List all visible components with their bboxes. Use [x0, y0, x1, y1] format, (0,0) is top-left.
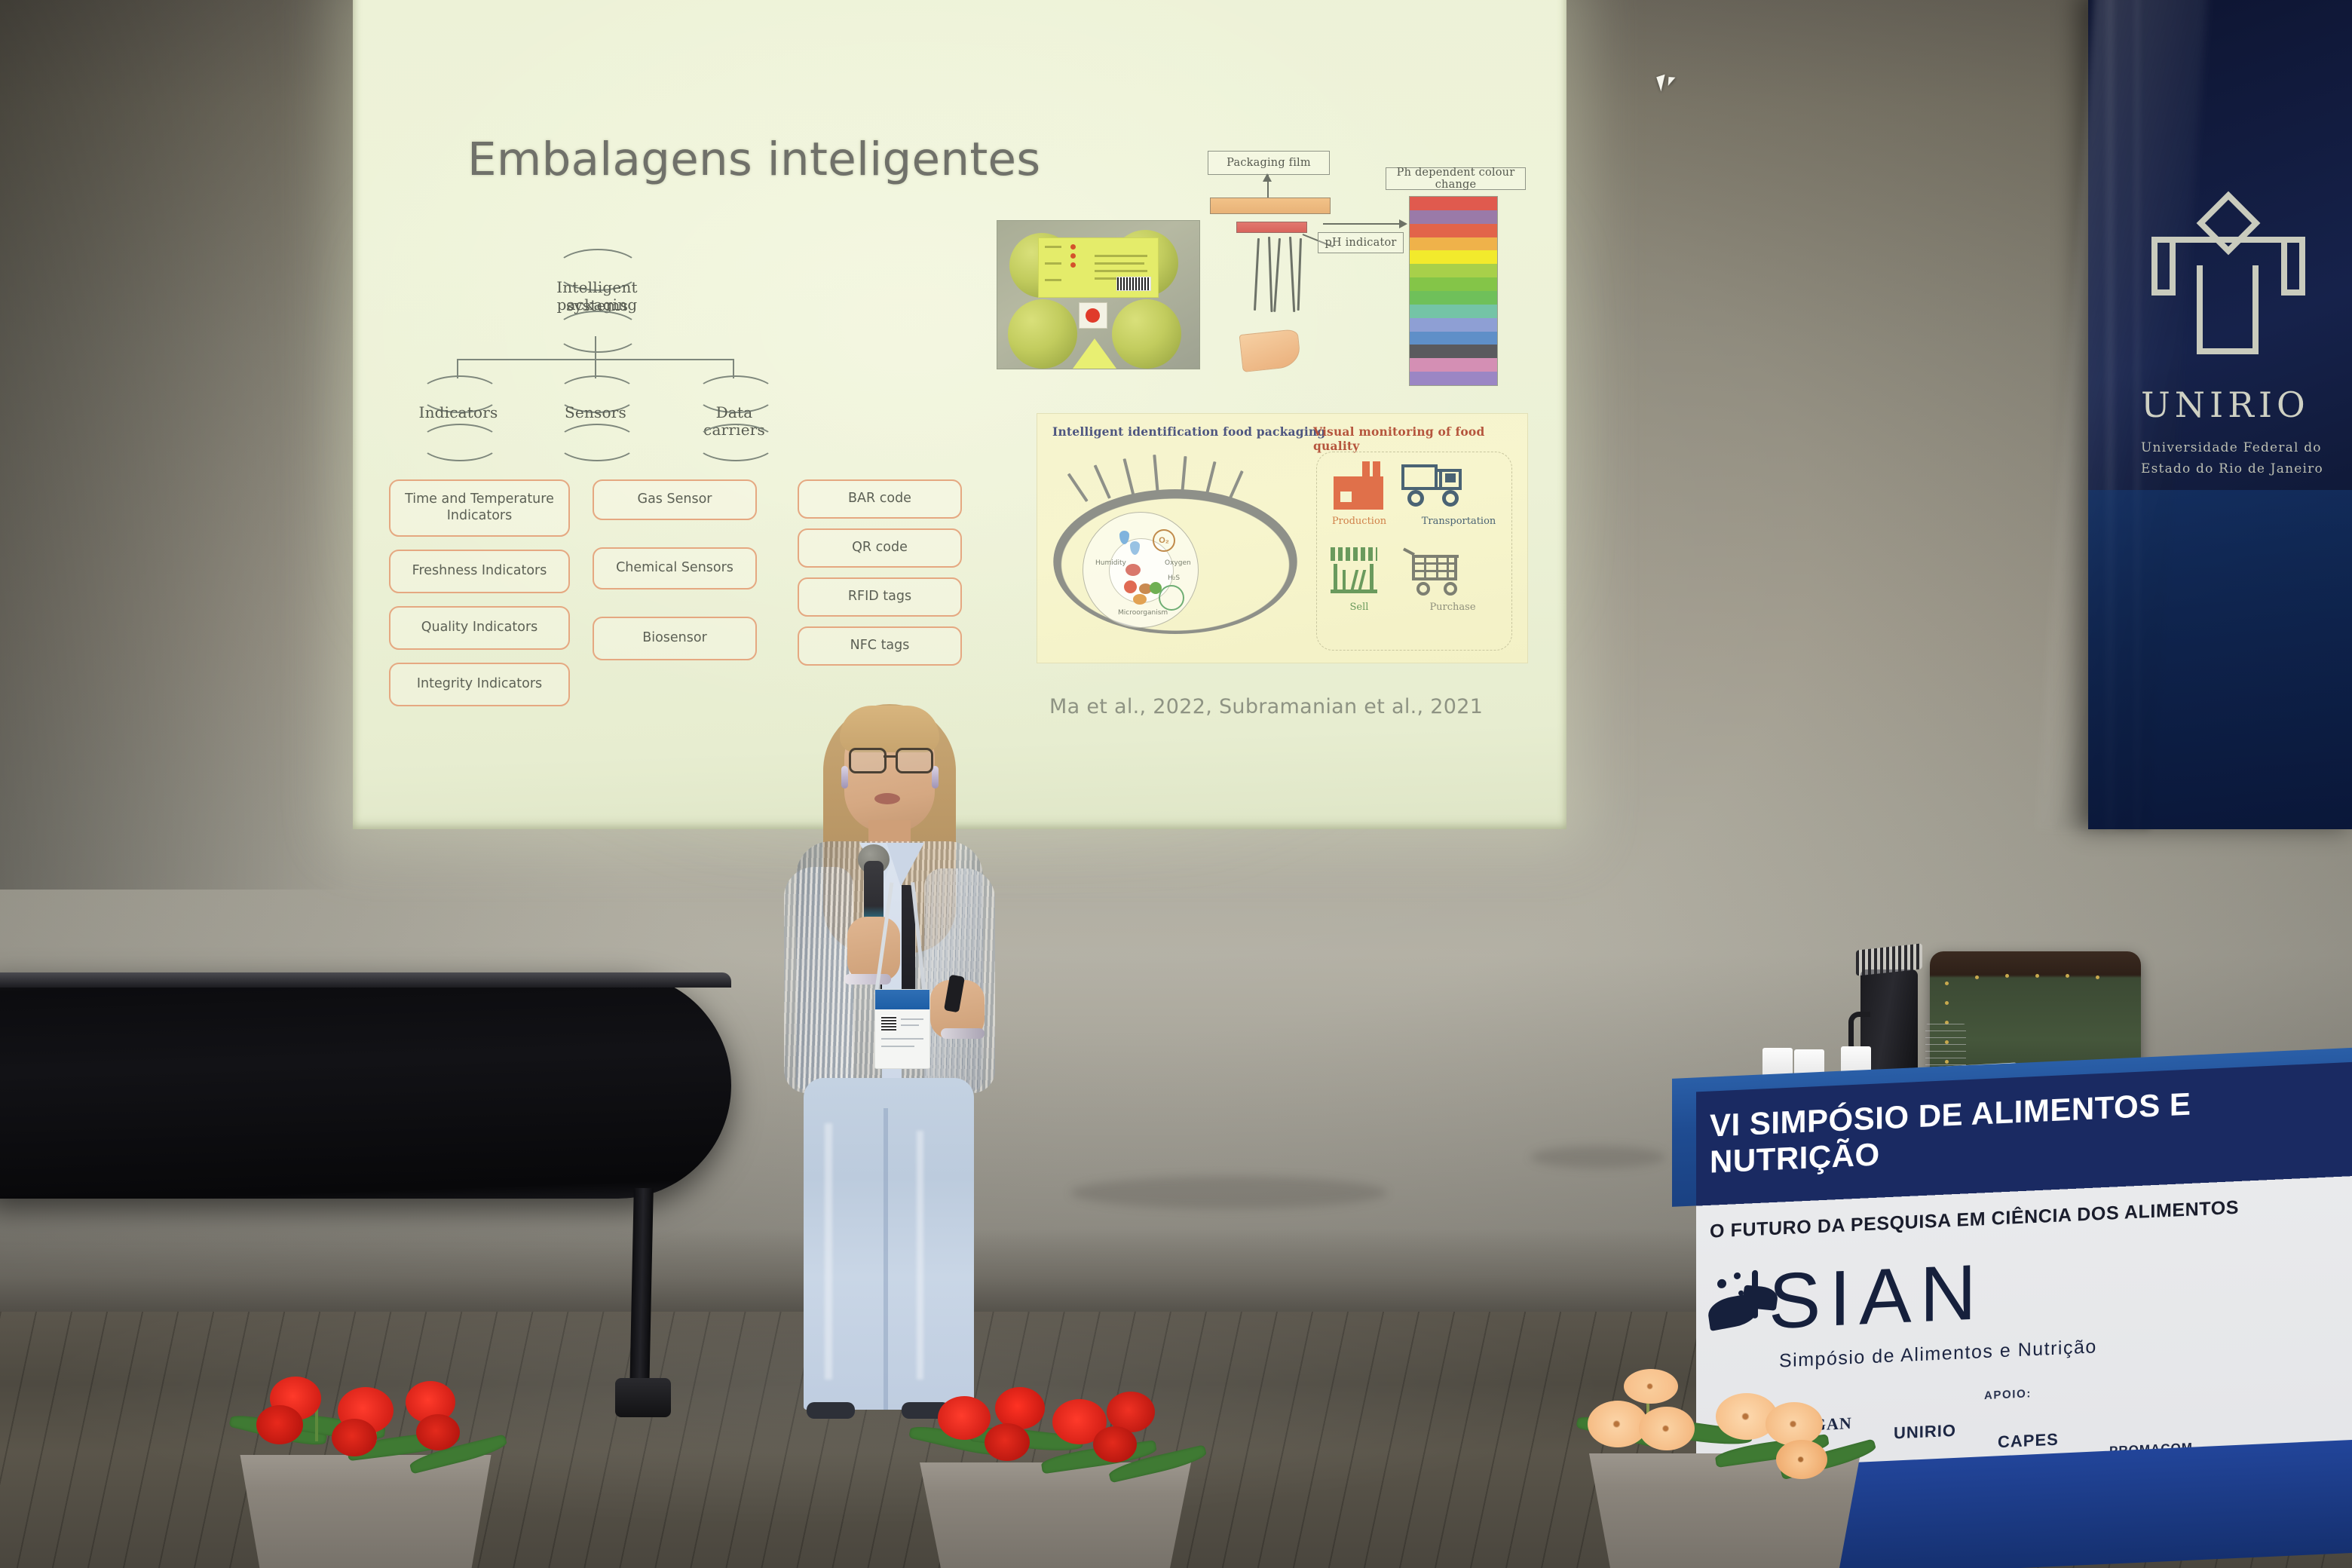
hand-left	[847, 917, 900, 982]
unirio-banner: UNIRIO Universidade Federal do Estado do…	[2088, 0, 2352, 829]
symposium-title: VI SIMPÓSIO DE ALIMENTOS E NUTRIÇÃO	[1710, 1079, 2352, 1181]
peach-flower	[1663, 1429, 1723, 1475]
peach-flower	[1766, 1402, 1823, 1446]
red-flower	[938, 1396, 991, 1440]
red-flower	[416, 1414, 460, 1450]
support-label: APOIO:	[1984, 1387, 2032, 1402]
peach-flower	[1776, 1440, 1827, 1479]
planter-pot	[226, 1455, 505, 1568]
banner-lower-panel	[2088, 490, 2352, 829]
bracelet	[844, 974, 891, 985]
photo-scene: Embalagens inteligentes Intelligent pack…	[0, 0, 2352, 1568]
red-flower	[256, 1405, 303, 1444]
red-flower	[985, 1423, 1030, 1461]
trouser-fold	[825, 1123, 832, 1380]
wristwatch	[941, 1028, 985, 1039]
conference-badge	[874, 989, 930, 1069]
grand-piano	[0, 972, 731, 1199]
planter-red-left	[226, 1364, 505, 1568]
unirio-subtitle-line1: Universidade Federal do	[2141, 439, 2352, 458]
planter-pot	[1574, 1453, 1876, 1568]
peach-flower	[1624, 1369, 1678, 1404]
arm-left	[784, 867, 853, 1093]
hair-fringe	[840, 706, 939, 752]
trouser-fold	[917, 1131, 923, 1380]
red-flower	[1093, 1426, 1137, 1462]
eyeglasses-icon	[849, 748, 932, 770]
presenter	[769, 701, 1010, 1462]
planter-red-center	[905, 1378, 1206, 1568]
wall-scuff	[1070, 1176, 1387, 1209]
sponsor-capes: CAPES	[1998, 1430, 2059, 1453]
trouser-seam	[884, 1108, 888, 1410]
badge-qr-code	[881, 1015, 896, 1031]
unirio-subtitle-line2: Estado do Rio de Janeiro	[2141, 460, 2352, 479]
sian-logo-text: SIAN	[1769, 1248, 1985, 1347]
left-shadow-gradient	[0, 0, 354, 890]
sponsor-unirio: UNIRIO	[1894, 1421, 1956, 1444]
piano-caster	[615, 1378, 671, 1417]
shoe-left	[807, 1402, 855, 1419]
mouth	[874, 793, 900, 804]
planter-pot	[905, 1462, 1206, 1568]
planter-peach-right	[1574, 1366, 1876, 1568]
earring	[932, 766, 939, 789]
symposium-subtitle: O FUTURO DA PESQUISA EM CIÊNCIA DOS ALIM…	[1710, 1192, 2352, 1243]
wall-scuff	[1530, 1146, 1666, 1168]
unirio-logo-icon	[2151, 201, 2302, 363]
red-flower	[332, 1419, 377, 1456]
earring	[841, 766, 848, 789]
unirio-wordmark: UNIRIO	[2141, 384, 2310, 425]
piano-lid-edge	[0, 972, 731, 988]
